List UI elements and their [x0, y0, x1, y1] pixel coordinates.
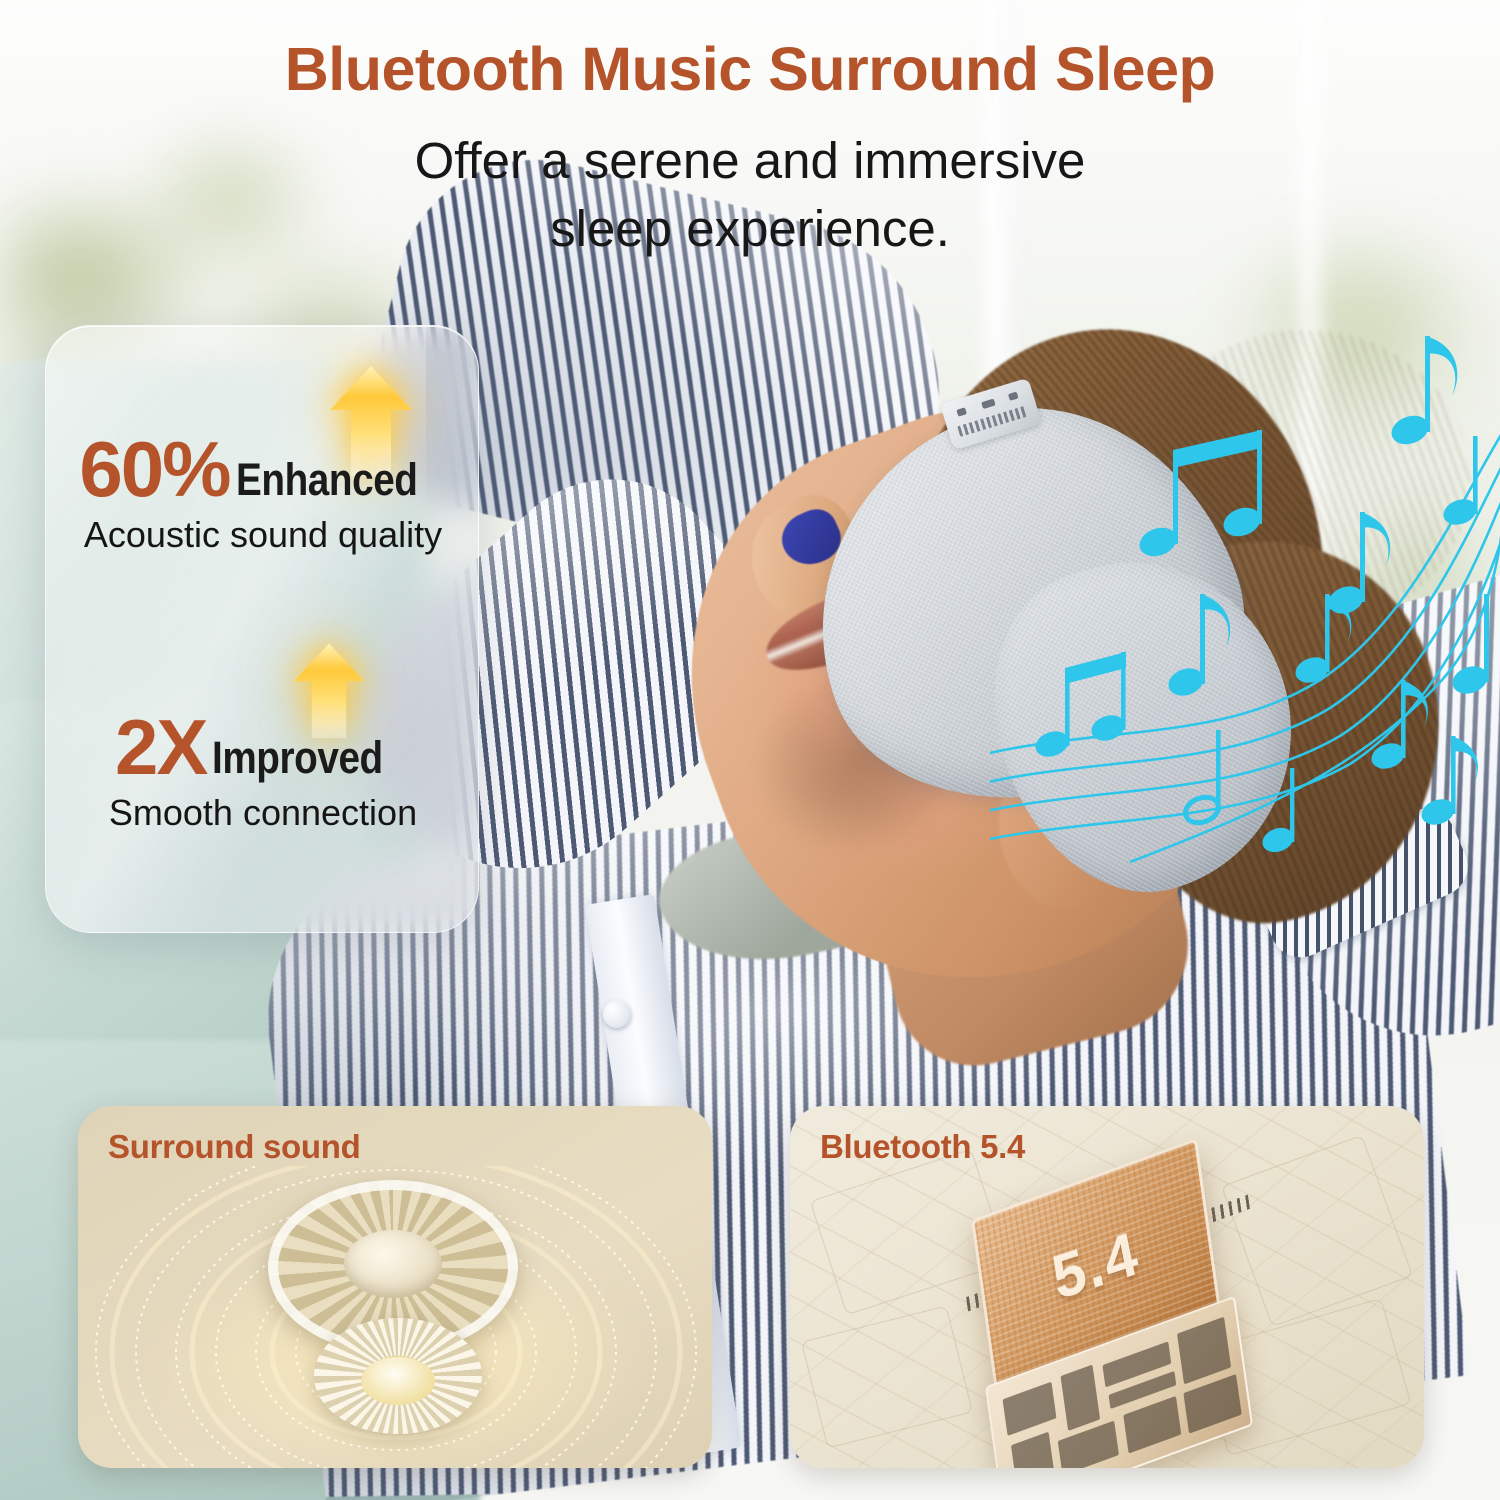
stat-item: 2X Improved Smooth connection	[46, 700, 479, 834]
stat-value: 2X	[115, 712, 206, 784]
feature-card-bluetooth: 5.4 Bluetooth 5.4	[790, 1106, 1424, 1468]
up-arrow-glow-icon	[292, 640, 366, 740]
page-headline: Bluetooth Music Surround Sleep	[0, 34, 1500, 104]
stat-description: Smooth connection	[46, 792, 479, 834]
stat-word: Improved	[212, 735, 383, 784]
stats-glass-card: 60% Enhanced Acoustic sound quality 2X I…	[45, 325, 479, 933]
stat-value: 60%	[79, 434, 229, 506]
stat-description: Acoustic sound quality	[46, 514, 479, 556]
speaker-driver-bottom	[314, 1318, 482, 1434]
stat-item: 60% Enhanced Acoustic sound quality	[46, 422, 479, 556]
feature-card-title: Bluetooth 5.4	[820, 1128, 1025, 1166]
feature-card-title: Surround sound	[108, 1128, 360, 1166]
subtitle-line-2: sleep experience.	[0, 195, 1500, 263]
stat-word: Enhanced	[236, 457, 418, 506]
page-subtitle: Offer a serene and immersive sleep exper…	[0, 127, 1500, 264]
subtitle-line-1: Offer a serene and immersive	[0, 127, 1500, 195]
music-notes-graphic	[990, 250, 1500, 870]
feature-card-surround-sound: Surround sound	[78, 1106, 712, 1468]
chip-version-label: 5.4	[1047, 1217, 1146, 1313]
